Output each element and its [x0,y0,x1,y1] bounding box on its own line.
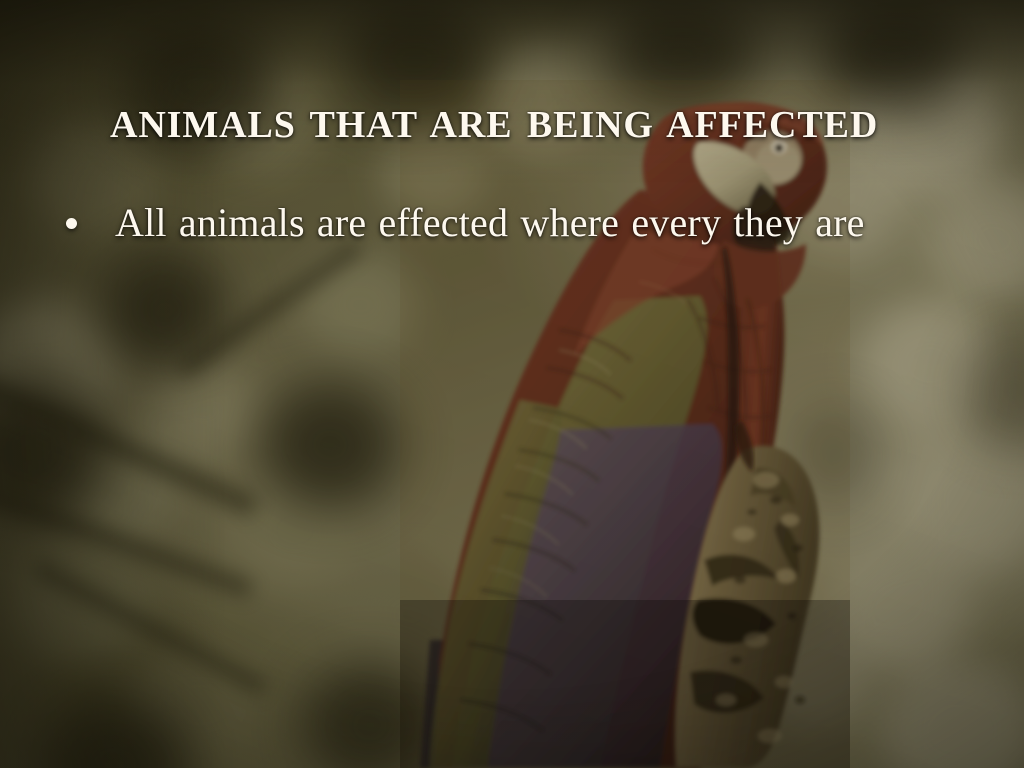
bullet-text: All animals are effected where every the… [115,200,865,245]
slide-title: ANIMALS THAT ARE BEING AFFECTED [110,103,920,147]
slide-bullet-list: All animals are effected where every the… [60,198,1000,248]
bullet-dot-icon [66,218,77,229]
presentation-slide: ANIMALS THAT ARE BEING AFFECTED All anim… [0,0,1024,768]
list-item: All animals are effected where every the… [60,198,1000,248]
